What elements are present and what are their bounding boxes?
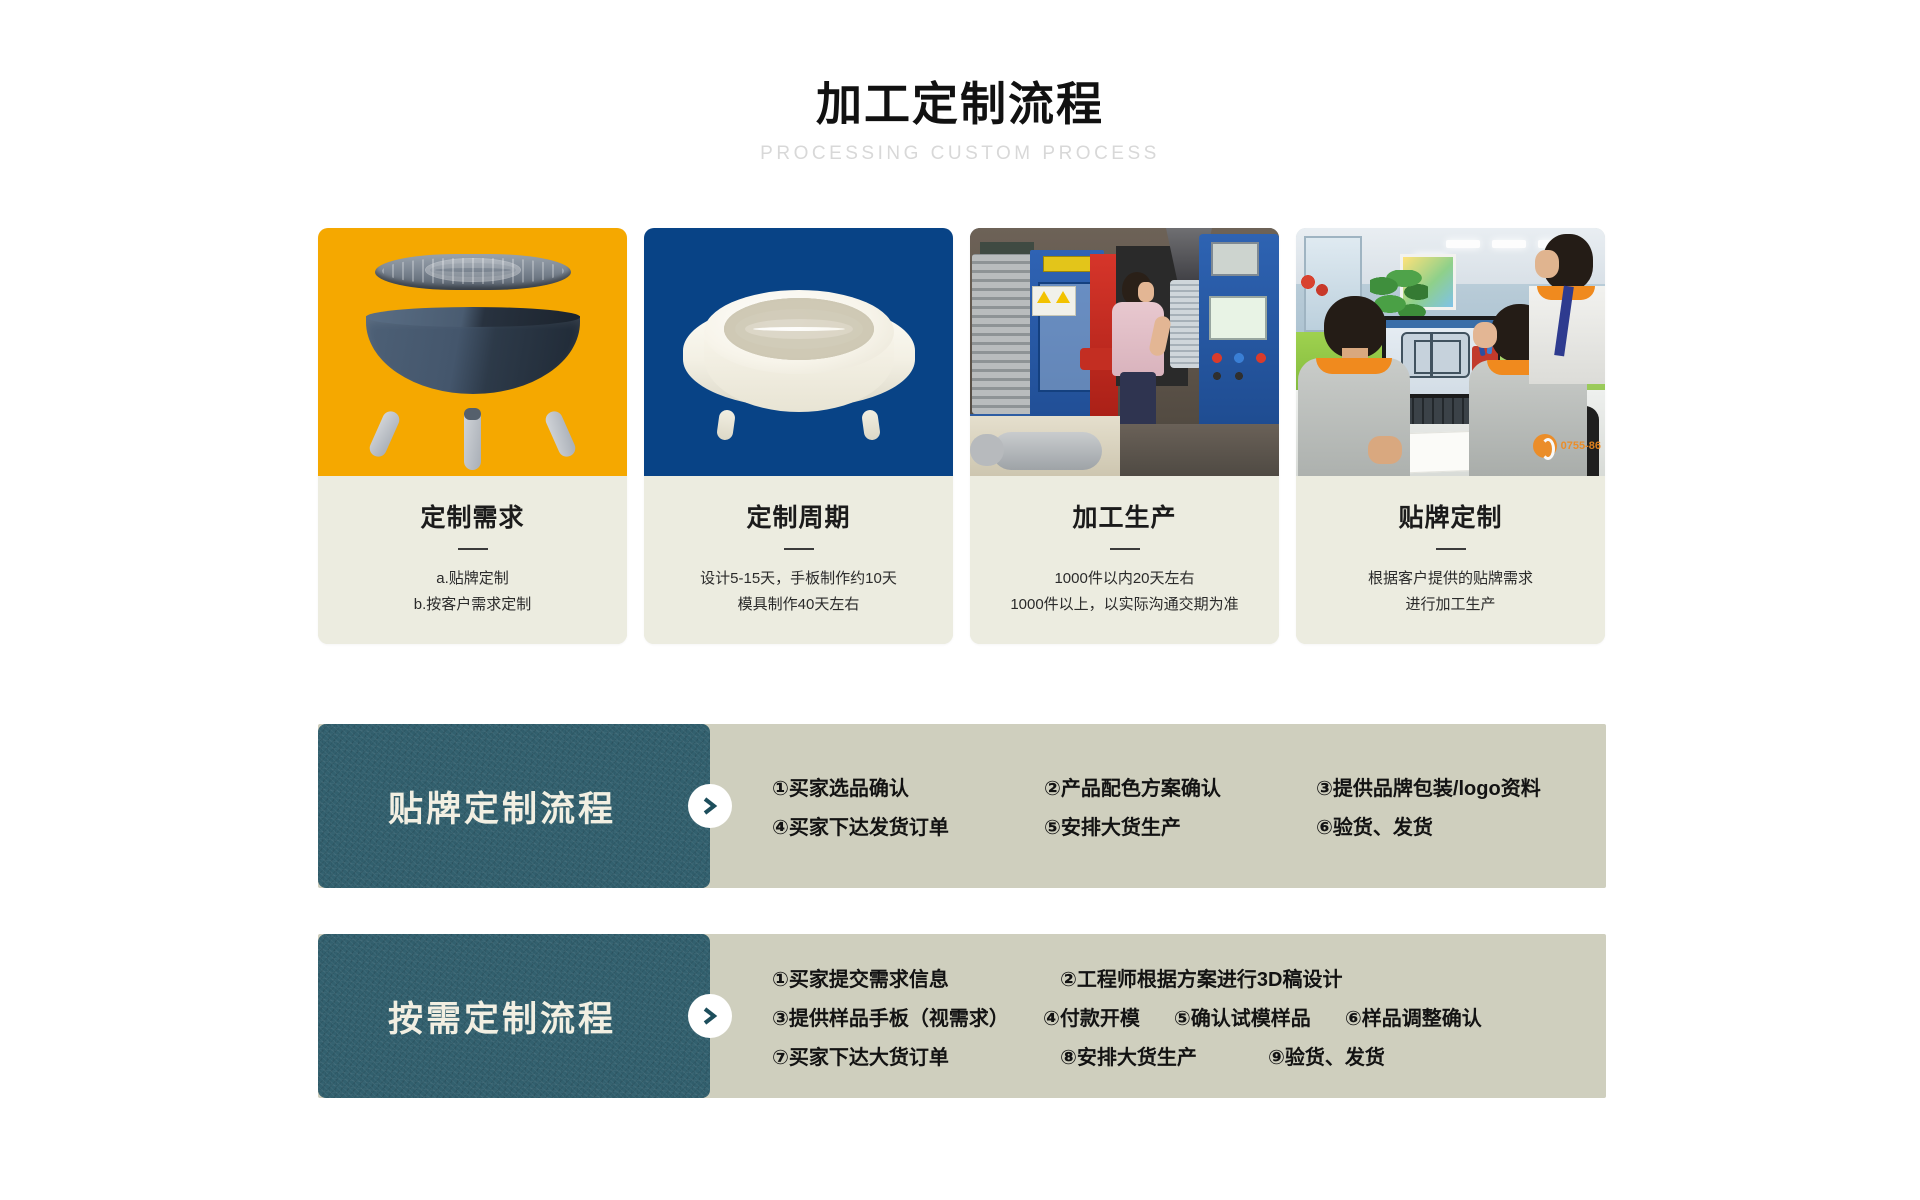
card-2-divider [784, 548, 814, 550]
process-card-list: 定制需求 a.贴牌定制 b.按客户需求定制 [318, 228, 1606, 644]
ondemand-banner-steps: ①买家提交需求信息 ②工程师根据方案进行3D稿设计 ③提供样品手板（视需求） ④… [710, 934, 1606, 1098]
ondemand-step-9: ⑨验货、发货 [1268, 1041, 1385, 1070]
molded-part-secondary [970, 434, 1004, 466]
employee-right-face [1535, 250, 1559, 278]
oem-step-2: ②产品配色方案确认 [1044, 772, 1316, 801]
card-1-desc: a.贴牌定制 b.按客户需求定制 [332, 566, 613, 618]
card-2-desc-line-2: 模具制作40天左右 [658, 592, 939, 618]
ondemand-step-4: ④付款开模 [1043, 1002, 1140, 1031]
cad-drawing [1401, 332, 1469, 378]
oem-step-row-2: ④买家下达发货订单 ⑤安排大货生产 ⑥验货、发货 [772, 811, 1606, 840]
card-1-title: 定制需求 [332, 498, 613, 534]
grill-leg-center [464, 408, 481, 470]
exploded-grill-illustration [318, 228, 627, 476]
corrugated-tube [1170, 280, 1202, 368]
prototype-leg-right [861, 409, 881, 441]
ondemand-step-5: ⑤确认试模样品 [1174, 1002, 1311, 1031]
ceiling-light-1 [1446, 240, 1480, 248]
factory-photo [970, 228, 1279, 476]
process-card-3[interactable]: 加工生产 1000件以内20天左右 1000件以上，以实际沟通交期为准 [970, 228, 1279, 644]
card-1-desc-line-2: b.按客户需求定制 [332, 592, 613, 618]
employee-left [1298, 296, 1410, 476]
prototype-leg-left [716, 409, 736, 441]
employee-left-hand [1368, 436, 1402, 464]
page-subtitle: PROCESSING CUSTOM PROCESS [0, 143, 1920, 165]
oem-banner-label-text: 贴牌定制流程 [388, 781, 616, 832]
oem-step-4: ④买家下达发货订单 [772, 811, 1044, 840]
oem-step-3: ③提供品牌包装/logo资料 [1316, 772, 1541, 801]
control-panel [1199, 234, 1279, 444]
chevron-right-icon[interactable] [688, 994, 732, 1038]
ondemand-step-row-1: ①买家提交需求信息 ②工程师根据方案进行3D稿设计 [772, 963, 1606, 992]
panel-buttons [1207, 350, 1271, 384]
oem-process-banner: 贴牌定制流程 ①买家选品确认 ②产品配色方案确认 ③提供品牌包装/logo资料 … [318, 724, 1606, 888]
ondemand-step-8: ⑧安排大货生产 [1060, 1041, 1268, 1070]
ondemand-step-1: ①买家提交需求信息 [772, 963, 1060, 992]
watermark-text: 0755-86 [1561, 440, 1601, 452]
oem-step-1: ①买家选品确认 [772, 772, 1044, 801]
card-4-desc-line-1: 根据客户提供的贴牌需求 [1310, 566, 1591, 592]
oem-banner-label[interactable]: 贴牌定制流程 [318, 724, 710, 888]
page-root: 加工定制流程 PROCESSING CUSTOM PROCESS 定制需求 [0, 0, 1920, 1200]
card-3-desc-line-2: 1000件以上，以实际沟通交期为准 [984, 592, 1265, 618]
card-4-desc-line-2: 进行加工生产 [1310, 592, 1591, 618]
stacked-parts [972, 254, 1038, 414]
card-4-body: 贴牌定制 根据客户提供的贴牌需求 进行加工生产 [1296, 476, 1605, 644]
ondemand-step-3: ③提供样品手板（视需求） [772, 1002, 1009, 1031]
office-photo: 0755-86 [1296, 228, 1605, 476]
grill-leg-left [367, 409, 402, 460]
card-3-media [970, 228, 1279, 476]
ondemand-step-row-3: ⑦买家下达大货订单 ⑧安排大货生产 ⑨验货、发货 [772, 1041, 1606, 1070]
card-2-desc-line-1: 设计5-15天，手板制作约10天 [658, 566, 939, 592]
ondemand-banner-label[interactable]: 按需定制流程 [318, 934, 710, 1098]
card-1-media [318, 228, 627, 476]
panel-screen-main [1209, 296, 1267, 340]
panel-screen-top [1211, 242, 1259, 276]
page-title: 加工定制流程 [0, 78, 1920, 131]
process-card-2[interactable]: 定制周期 设计5-15天，手板制作约10天 模具制作40天左右 [644, 228, 953, 644]
ondemand-process-banner: 按需定制流程 ①买家提交需求信息 ②工程师根据方案进行3D稿设计 ③提供样品手板… [318, 934, 1606, 1098]
oem-step-6: ⑥验货、发货 [1316, 811, 1433, 840]
employee-left-collar [1316, 358, 1392, 374]
card-1-body: 定制需求 a.贴牌定制 b.按客户需求定制 [318, 476, 627, 644]
camera-shutter-logo-icon [1533, 434, 1557, 458]
ceiling-light-2 [1492, 240, 1526, 248]
worker-face [1138, 282, 1154, 302]
oem-step-5: ⑤安排大货生产 [1044, 811, 1316, 840]
card-4-desc: 根据客户提供的贴牌需求 进行加工生产 [1310, 566, 1591, 618]
card-1-desc-line-1: a.贴牌定制 [332, 566, 613, 592]
card-3-body: 加工生产 1000件以内20天左右 1000件以上，以实际沟通交期为准 [970, 476, 1279, 644]
process-card-4[interactable]: 0755-86 贴牌定制 根据客户提供的贴牌需求 进行加工生产 [1296, 228, 1605, 644]
oem-banner-steps: ①买家选品确认 ②产品配色方案确认 ③提供品牌包装/logo资料 ④买家下达发货… [710, 724, 1606, 888]
ondemand-banner-label-text: 按需定制流程 [388, 991, 616, 1042]
grill-grate-rings [425, 258, 521, 282]
card-4-divider [1436, 548, 1466, 550]
card-2-title: 定制周期 [658, 498, 939, 534]
oem-step-row-1: ①买家选品确认 ②产品配色方案确认 ③提供品牌包装/logo资料 [772, 772, 1606, 801]
card-4-title: 贴牌定制 [1310, 498, 1591, 534]
card-3-desc-line-1: 1000件以内20天左右 [984, 566, 1265, 592]
ondemand-step-row-2: ③提供样品手板（视需求） ④付款开模 ⑤确认试模样品 ⑥样品调整确认 [772, 1002, 1606, 1031]
white-prototype-illustration [644, 228, 953, 476]
warning-sign-icon [1032, 286, 1076, 316]
ondemand-step-2: ②工程师根据方案进行3D稿设计 [1060, 963, 1343, 992]
ondemand-step-6: ⑥样品调整确认 [1345, 1002, 1482, 1031]
process-card-1[interactable]: 定制需求 a.贴牌定制 b.按客户需求定制 [318, 228, 627, 644]
employee-center-face [1473, 322, 1497, 348]
card-2-desc: 设计5-15天，手板制作约10天 模具制作40天左右 [658, 566, 939, 618]
card-2-body: 定制周期 设计5-15天，手板制作约10天 模具制作40天左右 [644, 476, 953, 644]
card-3-desc: 1000件以内20天左右 1000件以上，以实际沟通交期为准 [984, 566, 1265, 618]
grill-bowl-icon [366, 316, 580, 394]
page-header: 加工定制流程 PROCESSING CUSTOM PROCESS [0, 0, 1920, 165]
chevron-right-icon[interactable] [688, 784, 732, 828]
prototype-maze-pattern [724, 298, 874, 360]
ondemand-step-7: ⑦买家下达大货订单 [772, 1041, 1060, 1070]
employee-right [1529, 234, 1605, 384]
card-3-divider [1110, 548, 1140, 550]
card-1-divider [458, 548, 488, 550]
card-2-media [644, 228, 953, 476]
machine-label-plate [1043, 256, 1091, 272]
card-3-title: 加工生产 [984, 498, 1265, 534]
photo-watermark: 0755-86 [1533, 434, 1601, 458]
grill-leg-right [543, 409, 578, 460]
card-4-media: 0755-86 [1296, 228, 1605, 476]
molded-part [992, 432, 1102, 470]
